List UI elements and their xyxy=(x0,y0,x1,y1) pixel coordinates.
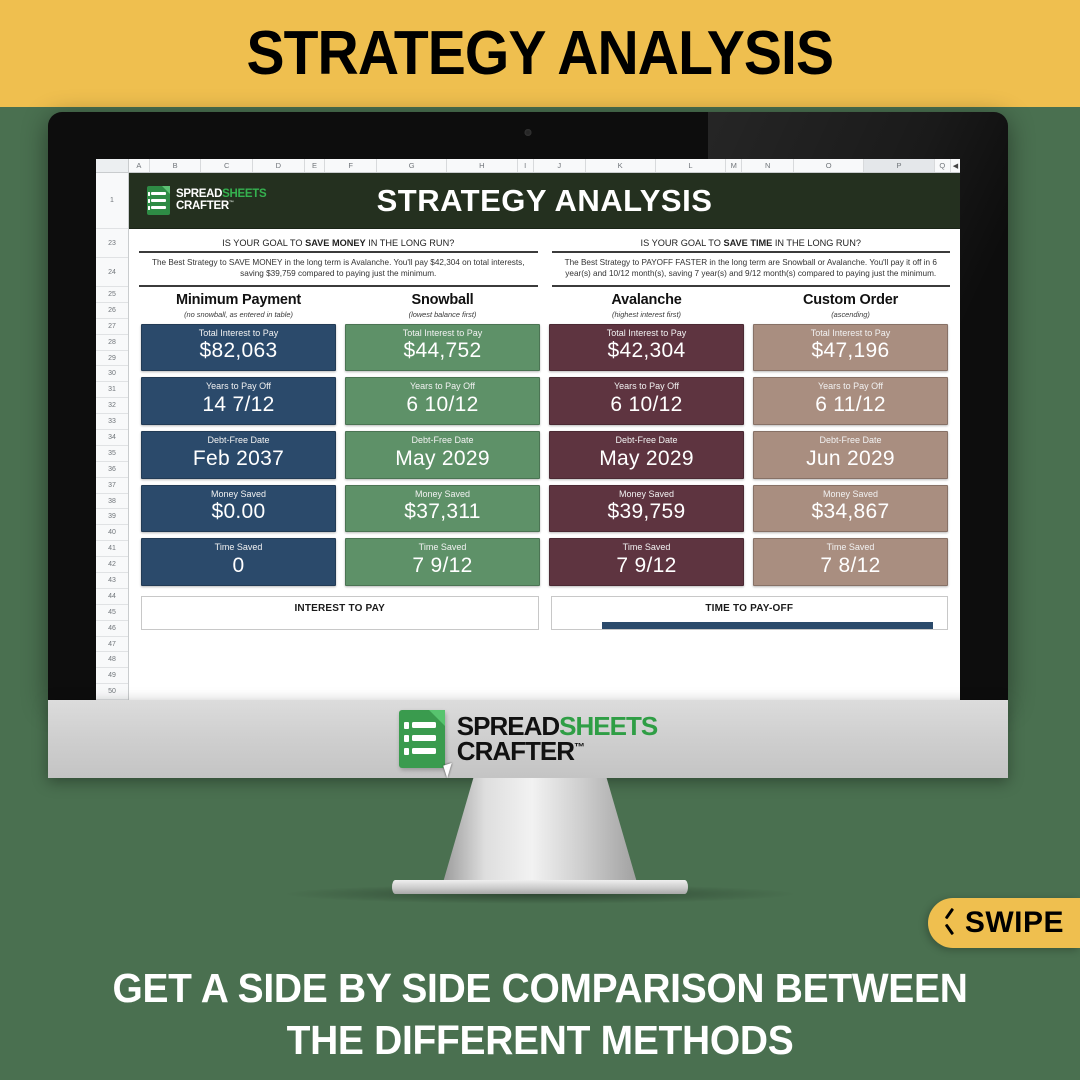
goal-answer: The Best Strategy to SAVE MONEY in the l… xyxy=(139,253,538,285)
row-number-gutter[interactable]: 1232425262728293031323334353637383940414… xyxy=(96,173,129,700)
spreadsheet-screen: ABCDEFGHIJKLMNOPQ ◀ 12324252627282930313… xyxy=(96,159,960,700)
mouse-cursor-icon xyxy=(443,763,456,778)
strategy-name: Avalanche xyxy=(549,293,744,309)
card-time-saved: Time Saved7 9/12 xyxy=(345,538,540,586)
column-header-l[interactable]: L xyxy=(656,159,726,172)
column-header-a[interactable]: A xyxy=(129,159,150,172)
monitor-stand-neck xyxy=(442,778,638,886)
chart-title: INTEREST TO PAY xyxy=(142,597,538,614)
row-header-29[interactable]: 29 xyxy=(96,351,128,367)
goal-question-pre: IS YOUR GOAL TO xyxy=(641,238,724,248)
goal-answer: The Best Strategy to PAYOFF FASTER in th… xyxy=(552,253,951,285)
row-header-31[interactable]: 31 xyxy=(96,382,128,398)
card-time-saved: Time Saved7 8/12 xyxy=(753,538,948,586)
column-header-p[interactable]: P xyxy=(864,159,934,172)
card-value: May 2029 xyxy=(348,447,537,472)
sheet-page-title: STRATEGY ANALYSIS xyxy=(129,183,960,219)
card-value: 6 10/12 xyxy=(348,393,537,418)
goal-question-post: IN THE LONG RUN? xyxy=(366,238,455,248)
column-header-n[interactable]: N xyxy=(742,159,794,172)
caption-line-1: GET A SIDE BY SIDE COMPARISON BETWEEN xyxy=(27,962,1053,1014)
column-header-e[interactable]: E xyxy=(305,159,326,172)
chart-panel-interest-to-pay[interactable]: INTEREST TO PAY xyxy=(141,596,539,630)
row-header-32[interactable]: 32 xyxy=(96,398,128,414)
brand-logo-large: SPREADSHEETS CRAFTER™ xyxy=(399,710,657,768)
card-value: $0.00 xyxy=(144,500,333,525)
card-value: 6 11/12 xyxy=(756,393,945,418)
card-value: May 2029 xyxy=(552,447,741,472)
strategy-column-snowball: Snowball(lowest balance first)Total Inte… xyxy=(345,293,540,592)
strategy-subtitle: (no snowball, as entered in table) xyxy=(141,310,336,319)
row-header-24[interactable]: 24 xyxy=(96,258,128,287)
row-header-43[interactable]: 43 xyxy=(96,573,128,589)
strategy-column-avalanche: Avalanche(highest interest first)Total I… xyxy=(549,293,744,592)
card-label: Total Interest to Pay xyxy=(348,329,537,339)
goal-block-save-money: IS YOUR GOAL TO SAVE MONEY IN THE LONG R… xyxy=(139,236,538,287)
goal-question-bold: SAVE TIME xyxy=(723,238,772,248)
card-label: Time Saved xyxy=(144,543,333,553)
column-header-q[interactable]: Q xyxy=(935,159,951,172)
card-label: Total Interest to Pay xyxy=(756,329,945,339)
row-header-40[interactable]: 40 xyxy=(96,525,128,541)
column-header-j[interactable]: J xyxy=(534,159,586,172)
column-scroll-left-icon[interactable]: ◀ xyxy=(951,159,960,172)
row-header-28[interactable]: 28 xyxy=(96,335,128,351)
strategy-name: Minimum Payment xyxy=(141,293,336,309)
column-header-m[interactable]: M xyxy=(726,159,742,172)
column-header-d[interactable]: D xyxy=(253,159,305,172)
card-label: Money Saved xyxy=(144,490,333,500)
column-header-k[interactable]: K xyxy=(586,159,656,172)
divider xyxy=(552,285,951,287)
goal-blocks: IS YOUR GOAL TO SAVE MONEY IN THE LONG R… xyxy=(129,229,960,287)
row-header-44[interactable]: 44 xyxy=(96,589,128,605)
card-value: $42,304 xyxy=(552,339,741,364)
strategy-subtitle: (ascending) xyxy=(753,310,948,319)
goal-question-post: IN THE LONG RUN? xyxy=(772,238,861,248)
strategy-subtitle: (highest interest first) xyxy=(549,310,744,319)
row-header-49[interactable]: 49 xyxy=(96,668,128,684)
card-label: Years to Pay Off xyxy=(552,382,741,392)
row-header-35[interactable]: 35 xyxy=(96,446,128,462)
card-interest: Total Interest to Pay$82,063 xyxy=(141,324,336,372)
card-value: $44,752 xyxy=(348,339,537,364)
card-value: 6 10/12 xyxy=(552,393,741,418)
card-value: 7 9/12 xyxy=(552,554,741,579)
column-header-f[interactable]: F xyxy=(325,159,377,172)
strategy-column-minimum-payment: Minimum Payment(no snowball, as entered … xyxy=(141,293,336,592)
card-value: $39,759 xyxy=(552,500,741,525)
card-years-to-pay-off: Years to Pay Off6 10/12 xyxy=(345,377,540,425)
row-header-41[interactable]: 41 xyxy=(96,541,128,557)
card-label: Years to Pay Off xyxy=(756,382,945,392)
card-label: Money Saved xyxy=(552,490,741,500)
row-header-33[interactable]: 33 xyxy=(96,414,128,430)
card-label: Time Saved xyxy=(348,543,537,553)
card-interest: Total Interest to Pay$42,304 xyxy=(549,324,744,372)
row-header-37[interactable]: 37 xyxy=(96,478,128,494)
row-header-26[interactable]: 26 xyxy=(96,303,128,319)
bottom-caption: GET A SIDE BY SIDE COMPARISON BETWEEN TH… xyxy=(0,962,1080,1067)
swipe-label: SWIPE xyxy=(965,906,1064,940)
strategy-subtitle: (lowest balance first) xyxy=(345,310,540,319)
card-debt-free-date: Debt-Free DateMay 2029 xyxy=(345,431,540,479)
card-value: $34,867 xyxy=(756,500,945,525)
chart-panels: INTEREST TO PAY TIME TO PAY-OFF xyxy=(129,592,960,630)
card-label: Debt-Free Date xyxy=(756,436,945,446)
strategy-column-custom-order: Custom Order(ascending)Total Interest to… xyxy=(753,293,948,592)
sheet-body: 1232425262728293031323334353637383940414… xyxy=(96,173,960,700)
brand-crafter-text: CRAFTER xyxy=(457,736,574,766)
goal-block-save-time: IS YOUR GOAL TO SAVE TIME IN THE LONG RU… xyxy=(552,236,951,287)
card-interest: Total Interest to Pay$44,752 xyxy=(345,324,540,372)
column-header-o[interactable]: O xyxy=(794,159,864,172)
strategy-name: Snowball xyxy=(345,293,540,309)
card-label: Total Interest to Pay xyxy=(144,329,333,339)
row-header-42[interactable]: 42 xyxy=(96,557,128,573)
card-time-saved: Time Saved7 9/12 xyxy=(549,538,744,586)
row-header-25[interactable]: 25 xyxy=(96,287,128,303)
card-label: Debt-Free Date xyxy=(348,436,537,446)
row-header-27[interactable]: 27 xyxy=(96,319,128,335)
card-value: Feb 2037 xyxy=(144,447,333,472)
row-header-38[interactable]: 38 xyxy=(96,494,128,510)
row-header-50[interactable]: 50 xyxy=(96,684,128,700)
card-value: 7 9/12 xyxy=(348,554,537,579)
monitor-chin: SPREADSHEETS CRAFTER™ xyxy=(48,700,1008,778)
column-header-c[interactable]: C xyxy=(201,159,253,172)
row-header-45[interactable]: 45 xyxy=(96,605,128,621)
row-header-48[interactable]: 48 xyxy=(96,652,128,668)
banner-title: STRATEGY ANALYSIS xyxy=(247,18,834,89)
row-header-30[interactable]: 30 xyxy=(96,366,128,382)
row-header-46[interactable]: 46 xyxy=(96,621,128,637)
column-header-g[interactable]: G xyxy=(377,159,447,172)
card-label: Time Saved xyxy=(756,543,945,553)
monitor-stand-base xyxy=(392,880,688,894)
card-years-to-pay-off: Years to Pay Off6 10/12 xyxy=(549,377,744,425)
card-label: Money Saved xyxy=(348,490,537,500)
card-time-saved: Time Saved0 xyxy=(141,538,336,586)
card-debt-free-date: Debt-Free DateFeb 2037 xyxy=(141,431,336,479)
goal-question-bold: SAVE MONEY xyxy=(305,238,366,248)
chevron-left-icon xyxy=(942,912,955,934)
row-header-36[interactable]: 36 xyxy=(96,462,128,478)
card-debt-free-date: Debt-Free DateMay 2029 xyxy=(549,431,744,479)
divider xyxy=(139,285,538,287)
card-money-saved: Money Saved$0.00 xyxy=(141,485,336,533)
top-banner: STRATEGY ANALYSIS xyxy=(0,0,1080,107)
chart-title: TIME TO PAY-OFF xyxy=(552,597,948,614)
card-label: Total Interest to Pay xyxy=(552,329,741,339)
card-years-to-pay-off: Years to Pay Off6 11/12 xyxy=(753,377,948,425)
card-label: Debt-Free Date xyxy=(552,436,741,446)
row-header-23[interactable]: 23 xyxy=(96,229,128,258)
card-debt-free-date: Debt-Free DateJun 2029 xyxy=(753,431,948,479)
card-label: Years to Pay Off xyxy=(144,382,333,392)
row-header-39[interactable]: 39 xyxy=(96,509,128,525)
brand-wordmark-large: SPREADSHEETS CRAFTER™ xyxy=(457,714,657,763)
select-all-corner[interactable] xyxy=(96,159,129,172)
card-value: Jun 2029 xyxy=(756,447,945,472)
card-label: Time Saved xyxy=(552,543,741,553)
monitor: ABCDEFGHIJKLMNOPQ ◀ 12324252627282930313… xyxy=(48,112,1008,700)
card-value: 7 8/12 xyxy=(756,554,945,579)
column-header-i[interactable]: I xyxy=(518,159,534,172)
card-label: Debt-Free Date xyxy=(144,436,333,446)
brand-tm-mark: ™ xyxy=(574,741,584,753)
swipe-badge[interactable]: SWIPE xyxy=(928,898,1080,948)
strategy-name: Custom Order xyxy=(753,293,948,309)
card-label: Years to Pay Off xyxy=(348,382,537,392)
card-interest: Total Interest to Pay$47,196 xyxy=(753,324,948,372)
card-money-saved: Money Saved$34,867 xyxy=(753,485,948,533)
goal-question: IS YOUR GOAL TO SAVE TIME IN THE LONG RU… xyxy=(552,236,951,251)
chart-panel-time-to-payoff[interactable]: TIME TO PAY-OFF xyxy=(551,596,949,630)
card-value: 14 7/12 xyxy=(144,393,333,418)
card-value: $37,311 xyxy=(348,500,537,525)
strategy-columns: Minimum Payment(no snowball, as entered … xyxy=(129,287,960,592)
sheet-content: SPREADSHEETS CRAFTER™ STRATEGY ANALYSIS … xyxy=(129,173,960,700)
card-value: 0 xyxy=(144,554,333,579)
card-label: Money Saved xyxy=(756,490,945,500)
row-header-34[interactable]: 34 xyxy=(96,430,128,446)
row-header-47[interactable]: 47 xyxy=(96,637,128,653)
goal-question-pre: IS YOUR GOAL TO xyxy=(222,238,305,248)
sheet-title-band: SPREADSHEETS CRAFTER™ STRATEGY ANALYSIS xyxy=(129,173,960,229)
spreadsheet-document-icon xyxy=(399,710,445,768)
column-header-row: ABCDEFGHIJKLMNOPQ ◀ xyxy=(96,159,960,173)
card-value: $82,063 xyxy=(144,339,333,364)
webcam-icon xyxy=(525,129,532,136)
card-value: $47,196 xyxy=(756,339,945,364)
column-header-b[interactable]: B xyxy=(150,159,202,172)
column-header-h[interactable]: H xyxy=(447,159,517,172)
chart-bar xyxy=(602,622,934,629)
caption-line-2: THE DIFFERENT METHODS xyxy=(27,1014,1053,1066)
row-header-1[interactable]: 1 xyxy=(96,173,128,229)
card-money-saved: Money Saved$37,311 xyxy=(345,485,540,533)
goal-question: IS YOUR GOAL TO SAVE MONEY IN THE LONG R… xyxy=(139,236,538,251)
card-money-saved: Money Saved$39,759 xyxy=(549,485,744,533)
card-years-to-pay-off: Years to Pay Off14 7/12 xyxy=(141,377,336,425)
